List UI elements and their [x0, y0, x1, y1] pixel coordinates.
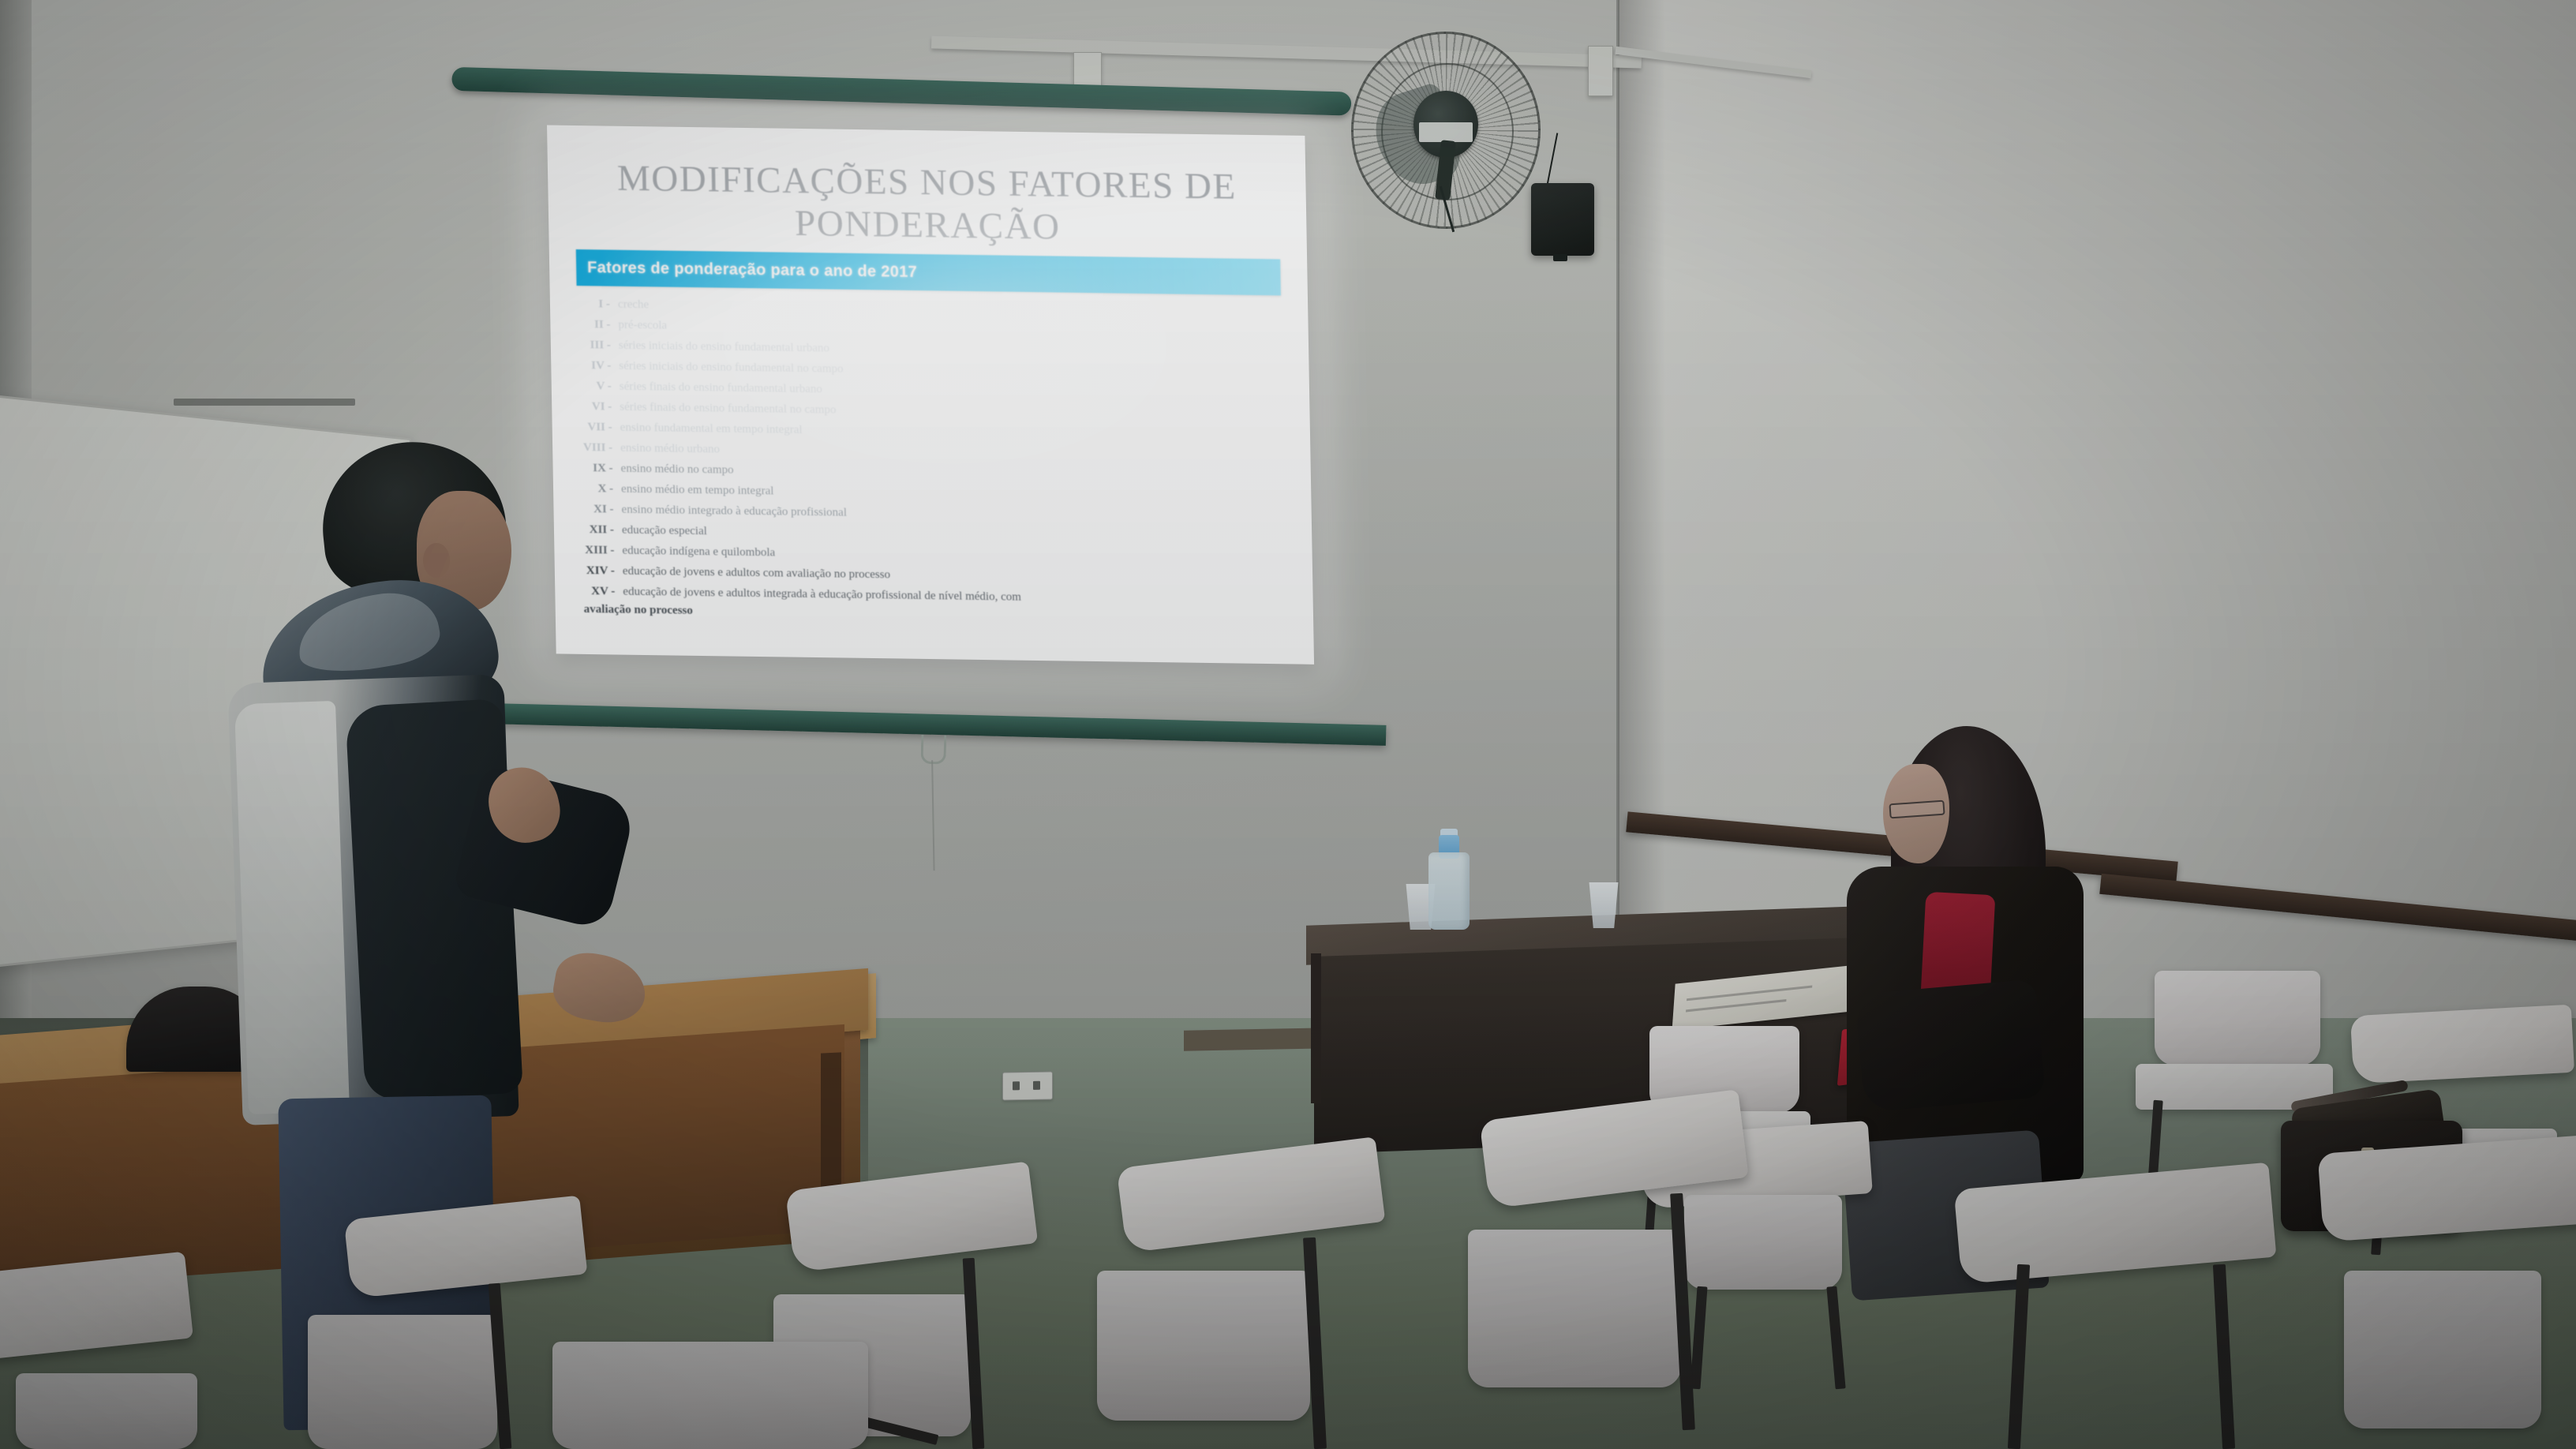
- classroom-photo: MODIFICAÇÕES NOS FATORES DE PONDERAÇÃO F…: [0, 0, 2576, 1449]
- speaker-bracket: [1553, 254, 1567, 261]
- slide-item-list: I -crecheII -pré-escolaIII -séries inici…: [577, 298, 1286, 607]
- slide-item-numeral: V -: [578, 380, 612, 393]
- chair-leg: [2008, 1264, 2030, 1449]
- slide-item-text: educação de jovens e adultos integrada à…: [623, 586, 1021, 604]
- slide-title: MODIFICAÇÕES NOS FATORES DE PONDERAÇÃO: [575, 157, 1280, 252]
- chair-leg: [2213, 1264, 2235, 1449]
- speaker-box: [1531, 183, 1594, 256]
- list-item[interactable]: [552, 1342, 884, 1449]
- chair-tablet-arm: [2318, 1135, 2576, 1241]
- power-outlet[interactable]: [1002, 1071, 1053, 1100]
- slide-item-text: creche: [618, 299, 649, 312]
- slide-list-item: II -pré-escola: [577, 319, 1282, 340]
- wall-fan-icon: [1351, 32, 1541, 229]
- chair-back: [1097, 1271, 1310, 1421]
- outlet-slot-left: [1013, 1081, 1020, 1090]
- chair-tablet-arm: [1954, 1163, 2277, 1284]
- slide-item-text: ensino fundamental em tempo integral: [620, 422, 803, 436]
- slide-list-item: VIII -ensino médio urbano: [579, 442, 1284, 463]
- slide-list-item: III -séries iniciais do ensino fundament…: [578, 339, 1282, 361]
- presenter-hand-lowered: [549, 948, 651, 1029]
- chair-leg: [1826, 1286, 1845, 1390]
- slide-list-item: VI -séries finais do ensino fundamental …: [578, 401, 1283, 422]
- slide-list-item: XI -ensino médio integrado à educação pr…: [580, 504, 1285, 525]
- slide-item-numeral: IV -: [578, 360, 611, 373]
- list-item[interactable]: [0, 1263, 237, 1449]
- presenter-ear: [423, 543, 450, 578]
- slide-list-item: X -ensino médio em tempo integral: [580, 483, 1285, 504]
- paper-line-2: [1686, 999, 1787, 1012]
- whiteboard-marker-tray: [174, 399, 355, 406]
- chair-tablet-arm: [1479, 1089, 1748, 1208]
- chair-back: [552, 1342, 868, 1449]
- chair-tablet-arm: [785, 1161, 1038, 1272]
- chair-back: [16, 1373, 197, 1449]
- slide-item-text: séries finais do ensino fundamental no c…: [620, 402, 836, 417]
- slide-tail-text: avaliação no processo: [582, 603, 1287, 626]
- bottle-body: [1428, 852, 1470, 930]
- slide-item-numeral: III -: [578, 339, 611, 352]
- slide-list-item: VII -ensino fundamental em tempo integra…: [579, 421, 1284, 443]
- slide-item-text: pré-escola: [618, 320, 667, 332]
- chair-back: [308, 1315, 497, 1449]
- chair-back: [2344, 1271, 2541, 1428]
- list-item[interactable]: [1105, 1152, 1389, 1449]
- attendee-arms: [1855, 979, 2046, 1112]
- outlet-slot-right: [1033, 1081, 1040, 1090]
- chair-tablet-arm: [344, 1196, 588, 1299]
- fan-hub-label: [1419, 122, 1472, 142]
- slide-list-item: IX -ensino médio no campo: [579, 462, 1284, 484]
- list-item[interactable]: [1957, 1176, 2289, 1449]
- slide-item-text: séries iniciais do ensino fundamental ur…: [619, 340, 829, 355]
- paper-line-1: [1687, 986, 1812, 1002]
- chair-tablet-arm: [1117, 1136, 1386, 1252]
- slide-list-item: XIV -educação de jovens e adultos com av…: [582, 565, 1286, 586]
- chair-tablet-arm: [2350, 1005, 2574, 1084]
- chair-back: [2155, 971, 2320, 1065]
- slide-table-header: Fatores de ponderação para o ano de 2017: [576, 249, 1281, 295]
- junction-box-right: [1588, 46, 1613, 96]
- slide-list-item: XIII -educação indígena e quilombola: [581, 545, 1286, 566]
- list-item[interactable]: [1460, 1105, 1744, 1449]
- water-bottle: [1428, 829, 1470, 930]
- slide-list-item: V -séries finais do ensino fundamental u…: [578, 380, 1283, 402]
- slide-item-numeral: VII -: [579, 421, 612, 434]
- slide-item-text: séries iniciais do ensino fundamental no…: [619, 361, 843, 376]
- desk-back-leg-left: [1311, 953, 1321, 1103]
- slide-item-numeral: I -: [577, 298, 610, 311]
- chair-tablet-arm: [0, 1252, 193, 1361]
- slide-item-numeral: VI -: [578, 401, 612, 414]
- presenter-torso-panel: [234, 701, 350, 1114]
- slide-table-header-text: Fatores de ponderação para o ano de 2017: [587, 259, 917, 282]
- slide-item-numeral: II -: [577, 319, 610, 331]
- list-item[interactable]: [2320, 1144, 2576, 1449]
- screen-pull-ring: [920, 735, 946, 765]
- chair-back: [1468, 1230, 1681, 1387]
- slide-item-text: séries finais do ensino fundamental urba…: [620, 381, 822, 396]
- slide-list-item: IV -séries iniciais do ensino fundamenta…: [578, 360, 1282, 381]
- slide-list-item: I -creche: [577, 298, 1282, 320]
- slide-list-item: XII -educação especial: [581, 524, 1286, 545]
